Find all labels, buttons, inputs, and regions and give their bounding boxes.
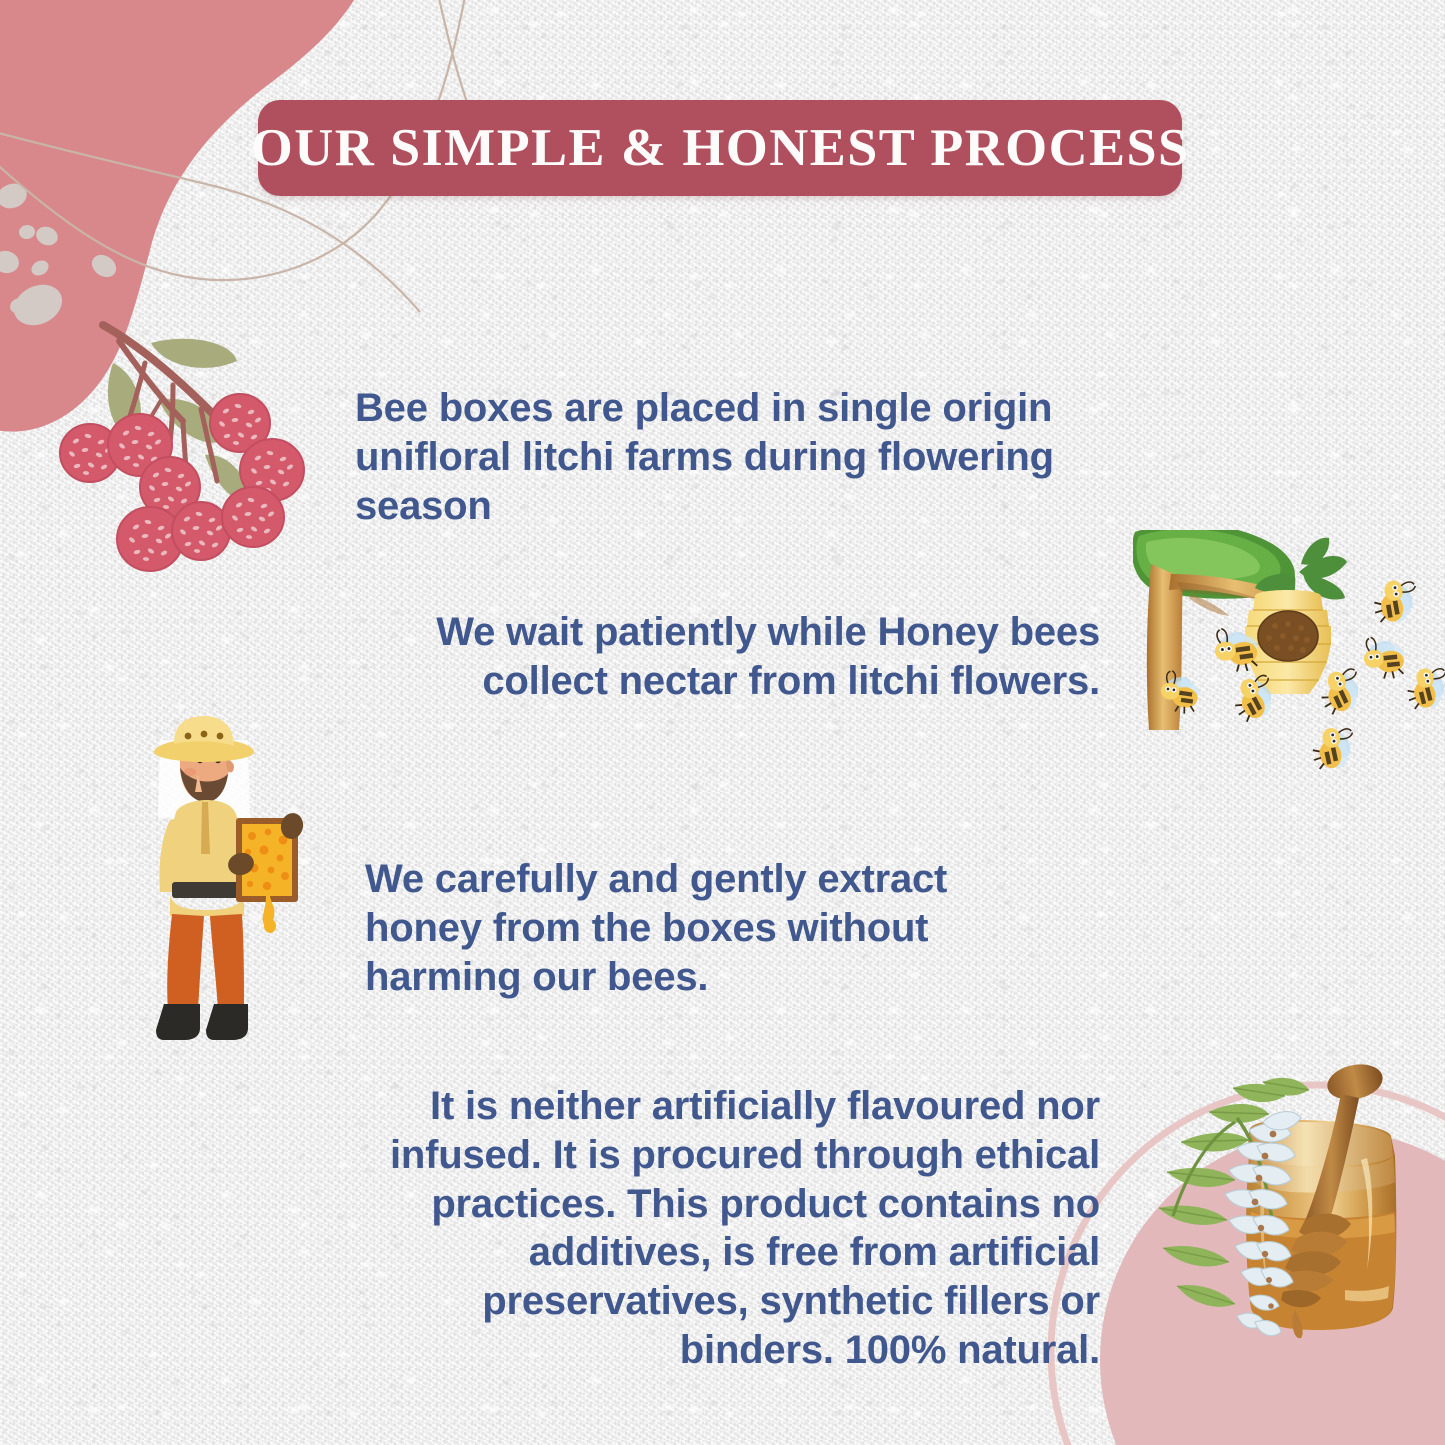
page-title-banner: OUR SIMPLE & HONEST PROCESS (258, 100, 1182, 196)
process-step-4-text: It is neither artificially flavoured nor… (340, 1082, 1100, 1375)
poster-canvas: OUR SIMPLE & HONEST PROCESS Bee boxes ar… (0, 0, 1445, 1445)
honey-jar-illustration (1145, 1060, 1445, 1365)
beekeeper-hat (154, 716, 254, 762)
process-step-1-text: Bee boxes are placed in single origin un… (355, 384, 1100, 530)
process-step-3-text: We carefully and gently extract honey fr… (365, 855, 1005, 1001)
beehive-tree-illustration (1133, 530, 1445, 775)
process-step-2-text: We wait patiently while Honey bees colle… (355, 608, 1100, 706)
page-title: OUR SIMPLE & HONEST PROCESS (251, 122, 1190, 175)
litchi-branch-illustration (55, 305, 340, 590)
beekeeper-legs (167, 914, 244, 1010)
beekeeper-boots (156, 1004, 248, 1040)
beekeeper-illustration (140, 710, 305, 1060)
